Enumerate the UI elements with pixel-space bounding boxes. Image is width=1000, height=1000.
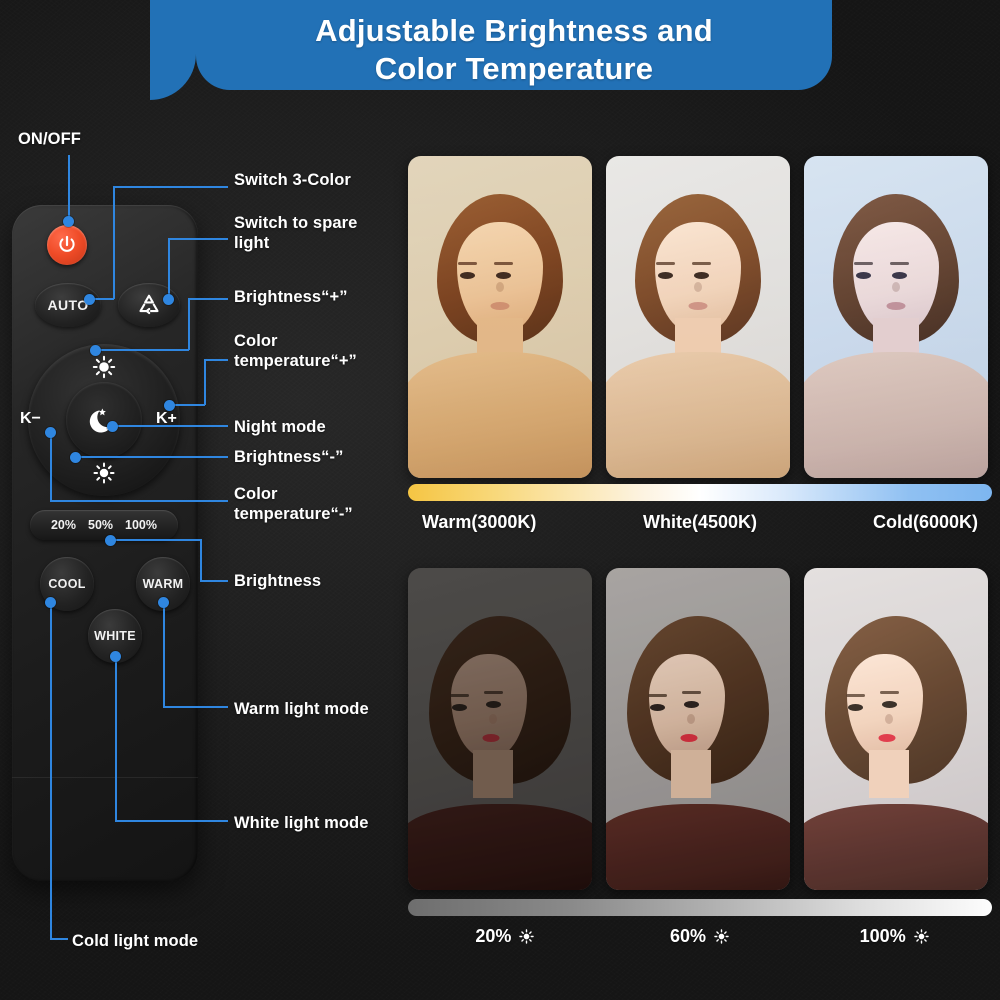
power-icon — [56, 234, 78, 256]
leader-cold-light-h — [50, 938, 68, 940]
dot-color-temp-minus — [45, 427, 56, 438]
white-button-label: WHITE — [94, 629, 136, 643]
label-brightness-60-text: 60% — [670, 926, 706, 947]
brightness-level-labels: 20% 60% 100% — [408, 926, 992, 947]
leader-brightness-h2 — [200, 580, 228, 582]
leader-color-temp-plus-h1 — [170, 404, 205, 406]
recycle-arrows-icon — [134, 290, 164, 320]
callout-cold-light-mode: Cold light mode — [72, 932, 198, 952]
dot-on-off — [63, 216, 74, 227]
photo-brightness-100 — [804, 568, 988, 890]
leader-switch-3color-v — [113, 186, 115, 299]
leader-cold-light-v — [50, 603, 52, 939]
label-brightness-20-text: 20% — [475, 926, 511, 947]
portrait-brightness-20 — [408, 568, 592, 890]
color-temperature-photo-grid — [408, 156, 988, 478]
brightness-preset-100: 100% — [125, 518, 157, 532]
leader-brightness-h1 — [111, 539, 201, 541]
callout-switch-3color: Switch 3-Color — [234, 171, 351, 191]
callout-brightness: Brightness — [234, 572, 321, 592]
night-mode-button[interactable] — [66, 382, 142, 458]
brightness-down-button[interactable] — [91, 460, 117, 486]
moon-star-icon — [86, 402, 122, 438]
callout-brightness-minus: Brightness“-” — [234, 448, 343, 468]
brightness-up-button[interactable] — [91, 354, 117, 380]
leader-brightness-plus-v — [188, 298, 190, 350]
leader-on-off — [68, 155, 70, 221]
auto-button[interactable]: AUTO — [35, 283, 101, 327]
photo-brightness-60 — [606, 568, 790, 890]
leader-warm-light-v — [163, 603, 165, 708]
dot-night-mode — [107, 421, 118, 432]
label-cold-6000k: Cold(6000K) — [793, 512, 992, 533]
label-white-4500k: White(4500K) — [607, 512, 792, 533]
power-button[interactable] — [47, 225, 87, 265]
brightness-photo-grid — [408, 568, 988, 890]
portrait-cold — [804, 156, 988, 478]
callout-switch-spare: Switch to spare light — [234, 214, 384, 254]
dot-cold-light-mode — [45, 597, 56, 608]
page-title-line1: Adjustable Brightness and — [315, 12, 713, 50]
callout-color-temp-plus: Color temperature“+” — [234, 332, 389, 372]
label-warm-3000k: Warm(3000K) — [408, 512, 607, 533]
photo-warm-3000k — [408, 156, 592, 478]
sun-bright-icon — [91, 354, 117, 380]
leader-switch-spare-v — [168, 238, 170, 298]
callout-color-temp-minus: Color temperature“-” — [234, 485, 389, 525]
photo-cold-6000k — [804, 156, 988, 478]
brightness-preset-button[interactable]: 20% 50% 100% — [30, 510, 178, 540]
portrait-white — [606, 156, 790, 478]
brightness-preset-20: 20% — [51, 518, 76, 532]
sun-icon — [91, 460, 117, 486]
page-title-line2: Color Temperature — [375, 50, 653, 88]
dot-brightness-minus — [70, 452, 81, 463]
dot-brightness — [105, 535, 116, 546]
leader-switch-spare-h — [168, 238, 228, 240]
dot-switch-spare — [163, 294, 174, 305]
cool-button-label: COOL — [48, 577, 85, 591]
color-temperature-labels: Warm(3000K) White(4500K) Cold(6000K) — [408, 512, 992, 533]
leader-brightness-plus-h2 — [188, 298, 228, 300]
label-brightness-100: 100% — [797, 926, 992, 947]
leader-color-temp-minus-h — [50, 500, 228, 502]
leader-night-mode — [113, 425, 228, 427]
auto-button-label: AUTO — [47, 297, 88, 313]
photo-brightness-20 — [408, 568, 592, 890]
callout-warm-light-mode: Warm light mode — [234, 700, 369, 720]
page-title: Adjustable Brightness and Color Temperat… — [196, 4, 832, 96]
leader-brightness-minus — [76, 456, 228, 458]
leader-brightness-v — [200, 539, 202, 581]
callout-night-mode: Night mode — [234, 418, 326, 438]
color-temp-down-button[interactable]: K− — [20, 410, 41, 428]
color-temperature-gradient-bar — [408, 484, 992, 501]
callout-brightness-plus: Brightness“+” — [234, 288, 348, 308]
brightness-preset-50: 50% — [88, 518, 113, 532]
leader-white-light-v — [115, 657, 117, 822]
dot-color-temp-plus — [164, 400, 175, 411]
callout-white-light-mode: White light mode — [234, 814, 369, 834]
label-brightness-20: 20% — [408, 926, 603, 947]
leader-brightness-plus-h1 — [96, 349, 189, 351]
brightness-gradient-bar — [408, 899, 992, 916]
dot-brightness-plus — [90, 345, 101, 356]
banner-left-curve — [150, 0, 196, 100]
leader-white-light-h — [115, 820, 228, 822]
dot-switch-3color — [84, 294, 95, 305]
dot-warm-light-mode — [158, 597, 169, 608]
sun-icon — [518, 928, 535, 945]
dot-white-light-mode — [110, 651, 121, 662]
photo-white-4500k — [606, 156, 790, 478]
leader-color-temp-plus-h2 — [204, 359, 228, 361]
leader-color-temp-minus-v — [50, 433, 52, 501]
warm-button-label: WARM — [143, 577, 184, 591]
portrait-warm — [408, 156, 592, 478]
leader-warm-light-h — [163, 706, 228, 708]
callout-on-off: ON/OFF — [18, 130, 81, 150]
label-brightness-60: 60% — [603, 926, 798, 947]
sun-icon — [913, 928, 930, 945]
sun-icon — [713, 928, 730, 945]
label-brightness-100-text: 100% — [860, 926, 906, 947]
switch-spare-light-button[interactable] — [118, 283, 180, 327]
leader-switch-3color-h2 — [113, 186, 228, 188]
portrait-brightness-100 — [804, 568, 988, 890]
leader-color-temp-plus-v — [204, 359, 206, 405]
portrait-brightness-60 — [606, 568, 790, 890]
